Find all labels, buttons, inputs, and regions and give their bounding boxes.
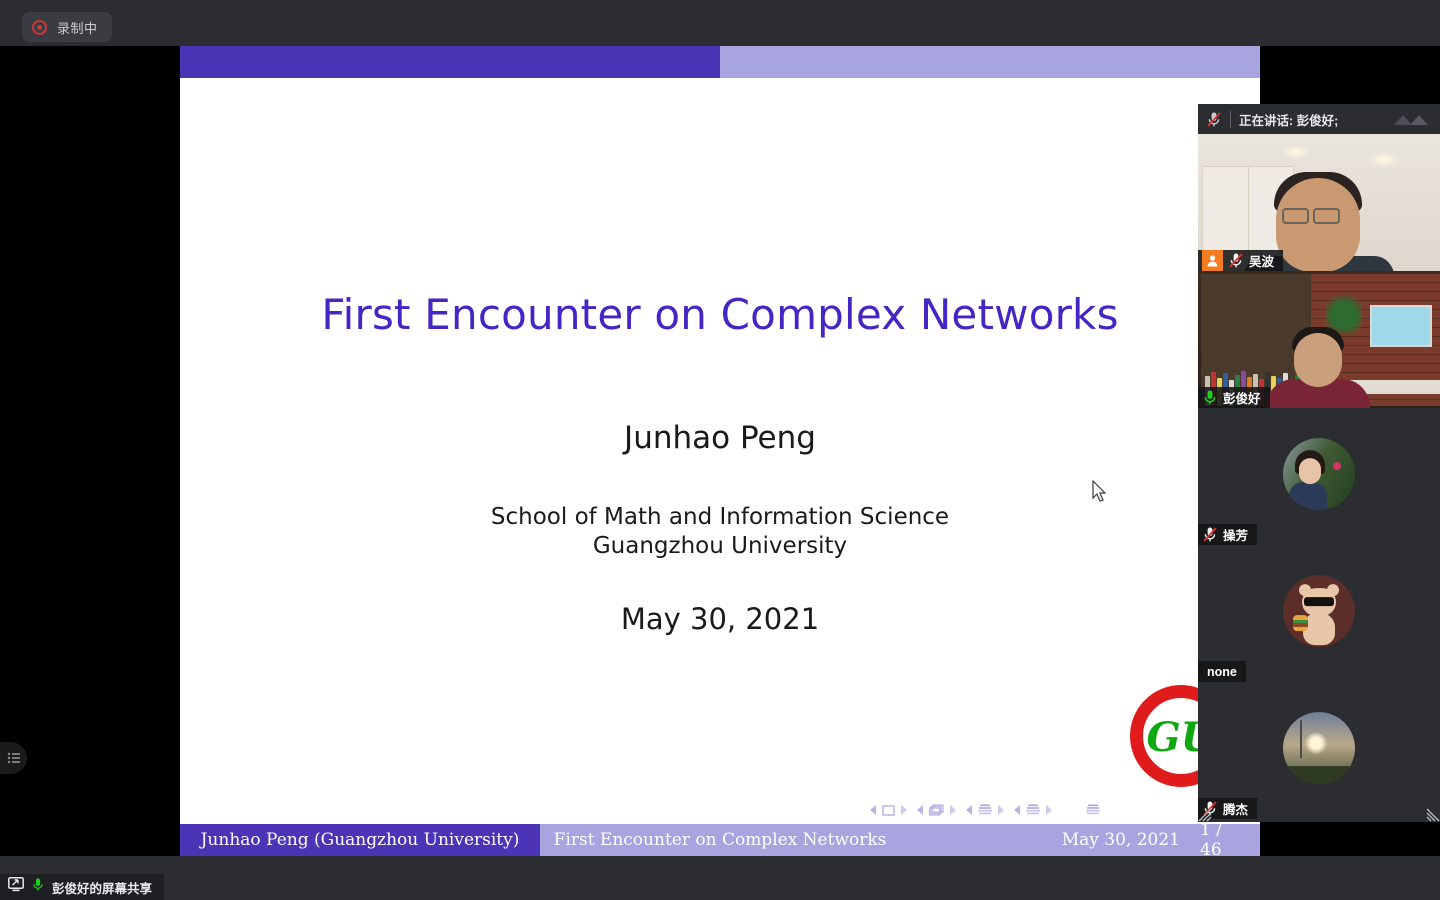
participant-name-bar: 彭俊好: [1198, 387, 1270, 408]
screen-share-icon: [8, 877, 24, 897]
mic-active-icon: [1202, 389, 1218, 406]
avatar: [1283, 575, 1355, 647]
frame-nav-group[interactable]: [917, 804, 956, 816]
recording-badge[interactable]: 录制中: [22, 12, 112, 42]
subsection-nav-group[interactable]: [966, 804, 1004, 816]
footer-page-number: 1 / 46: [1200, 824, 1260, 856]
host-badge-icon: [1202, 250, 1223, 271]
participant-name-bar: 吴波: [1198, 250, 1283, 271]
participant-name-bar: none: [1198, 661, 1246, 682]
mic-active-icon: [31, 877, 45, 897]
slide-affiliation: School of Math and Information Science G…: [180, 503, 1260, 561]
chevron-double-up-icon[interactable]: [1390, 110, 1434, 128]
footer-date: May 30, 2021: [900, 824, 1200, 856]
list-panel-icon: [7, 751, 21, 765]
mic-muted-icon: [1228, 252, 1244, 269]
participant-name: 操芳: [1223, 525, 1248, 544]
participant-video-panel[interactable]: 正在讲话: 彭俊好;: [1198, 104, 1440, 822]
document-marker-icon[interactable]: [1086, 804, 1100, 816]
mouse-cursor: [1092, 480, 1108, 504]
panel-header-divider: [1230, 111, 1231, 128]
subsection-prev-icon[interactable]: [966, 805, 973, 815]
avatar: [1283, 438, 1355, 510]
taskbar-item-screen-share[interactable]: 彭俊好的屏幕共享: [0, 874, 164, 900]
slide-header-light-segment: [720, 46, 1260, 78]
beamer-navigation-symbols[interactable]: [870, 804, 1100, 816]
footer-author: Junhao Peng (Guangzhou University): [180, 824, 540, 856]
participant-tile-caofang[interactable]: 操芳: [1198, 408, 1440, 545]
slide-footer: Junhao Peng (Guangzhou University) First…: [180, 824, 1260, 856]
bottom-taskbar: 彭俊好的屏幕共享: [0, 856, 1440, 900]
zoom-meeting-window: 录制中 First Encounter on Complex Networks …: [0, 0, 1440, 900]
slide-marker-icon[interactable]: [882, 805, 895, 816]
participant-tile-tengjie[interactable]: 腾杰: [1198, 682, 1440, 819]
participant-tile-none[interactable]: none: [1198, 545, 1440, 682]
record-dot-icon: [32, 20, 47, 35]
panel-resize-grip-left[interactable]: [1198, 808, 1212, 822]
avatar: [1283, 712, 1355, 784]
recording-label: 录制中: [57, 18, 98, 37]
participant-name: 彭俊好: [1223, 388, 1261, 407]
frame-prev-icon[interactable]: [917, 805, 924, 815]
section-nav-group[interactable]: [1014, 804, 1052, 816]
slide-header-dark-segment: [180, 46, 720, 78]
slide-next-icon[interactable]: [900, 805, 907, 815]
slide-content: First Encounter on Complex Networks Junh…: [180, 78, 1260, 824]
panel-resize-grip-right[interactable]: [1426, 808, 1440, 822]
footer-title: First Encounter on Complex Networks: [540, 824, 900, 856]
mic-muted-icon: [1202, 526, 1218, 543]
slide-affiliation-line2: Guangzhou University: [180, 532, 1260, 561]
section-next-icon[interactable]: [1045, 805, 1052, 815]
participant-tile-pengjunhao[interactable]: 彭俊好: [1198, 271, 1440, 408]
subsection-next-icon[interactable]: [997, 805, 1004, 815]
participant-tile-wubo[interactable]: 吴波: [1198, 134, 1440, 271]
slide-nav-group[interactable]: [870, 805, 907, 816]
left-panel-handle[interactable]: [0, 742, 27, 774]
section-marker-icon[interactable]: [1026, 804, 1040, 816]
active-speaker-label: 正在讲话: 彭俊好;: [1239, 110, 1338, 129]
subsection-marker-icon[interactable]: [978, 804, 992, 816]
slide-date: May 30, 2021: [180, 602, 1260, 636]
section-prev-icon[interactable]: [1014, 805, 1021, 815]
shared-screen-slide[interactable]: First Encounter on Complex Networks Junh…: [180, 46, 1260, 856]
slide-title: First Encounter on Complex Networks: [180, 290, 1260, 339]
participant-name: none: [1207, 665, 1237, 679]
mic-muted-icon: [1206, 111, 1222, 128]
participant-name-bar: 操芳: [1198, 524, 1257, 545]
slide-header-bar: [180, 46, 1260, 78]
frame-marker-icon[interactable]: [929, 804, 944, 816]
participant-name: 腾杰: [1223, 799, 1248, 818]
frame-next-icon[interactable]: [949, 805, 956, 815]
participant-name: 吴波: [1249, 251, 1274, 270]
slide-prev-icon[interactable]: [870, 805, 877, 815]
taskbar-item-label: 彭俊好的屏幕共享: [52, 878, 152, 897]
panel-header: 正在讲话: 彭俊好;: [1198, 104, 1440, 134]
slide-affiliation-line1: School of Math and Information Science: [180, 503, 1260, 532]
top-bar: 录制中: [0, 0, 1440, 46]
slide-author: Junhao Peng: [180, 420, 1260, 456]
